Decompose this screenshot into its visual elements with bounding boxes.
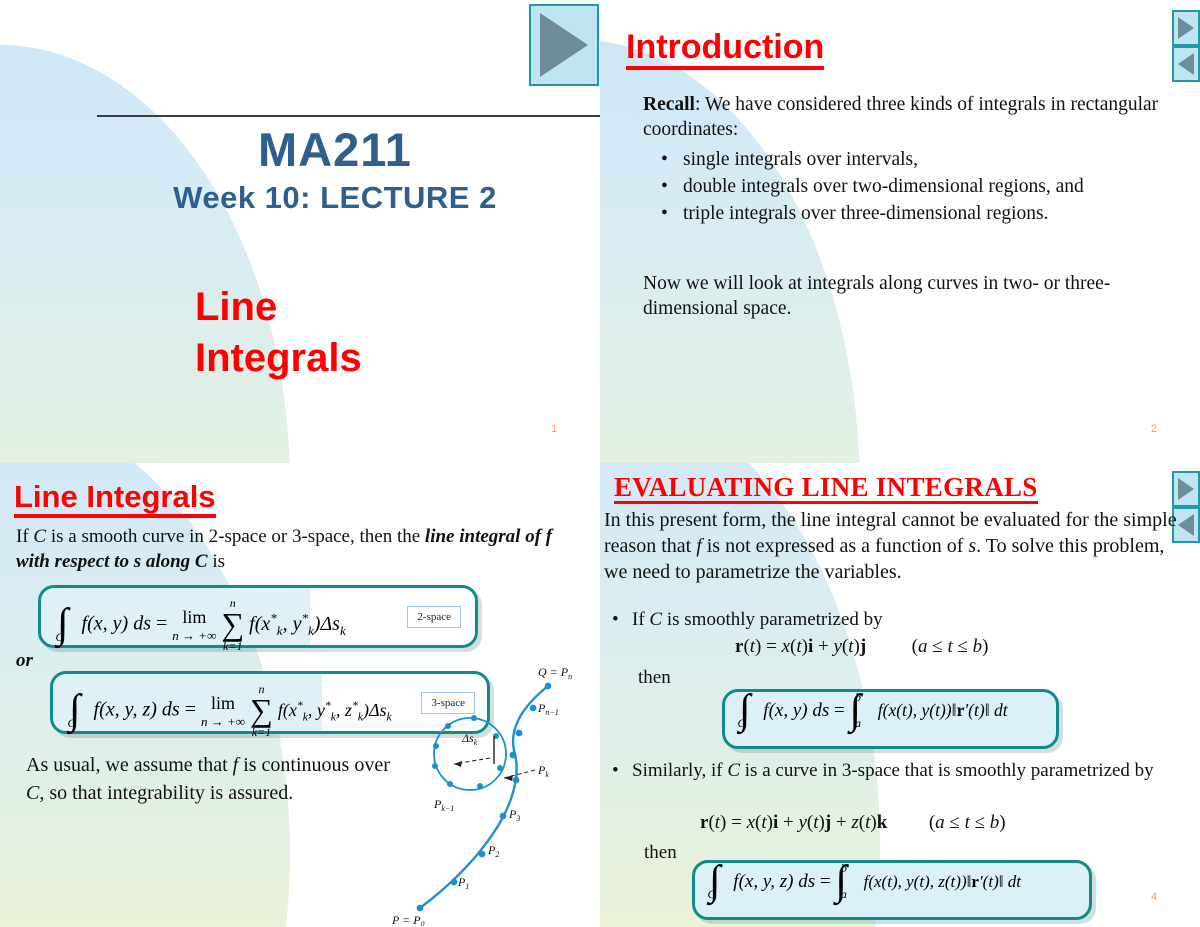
label-end: Q = Pn [538,665,572,681]
then-label-2: then [644,841,677,866]
curve-symbol: C [649,609,662,630]
pk-arrowhead [504,775,513,781]
integral-kinds-list: •single integrals over intervals, •doubl… [643,147,1183,227]
recall-text: : We have considered three kinds of inte… [643,94,1158,140]
equals-sign: = [185,699,196,721]
recall-paragraph: Recall: We have considered three kinds o… [643,92,1183,143]
parametrization-3d: r(t) = x(t)i + y(t)j + z(t)k (a ≤ t ≤ b) [700,811,1006,836]
arc-point [447,781,453,787]
sum-bottom: k=1 [223,639,242,653]
limit-bottom: n → +∞ [201,714,245,729]
integral-upper-limit: b [855,690,861,704]
curve-symbol: C [33,526,46,547]
sigma-icon: ∑ [250,692,273,728]
label-p3: P3 [508,807,520,823]
integral-subscript: C [738,716,746,730]
note-text-2: is continuous over [238,754,390,776]
integrand-lhs: f(x, y, z) ds [733,871,815,892]
point-marker [500,813,507,820]
label-pn-minus-1: Pn−1 [537,701,559,717]
next-slide-button[interactable] [1172,10,1200,46]
slide-4: EVALUATING LINE INTEGRALS In this presen… [600,463,1200,927]
list-item-label: double integrals over two-dimensional re… [683,176,1084,197]
integral-subscript: C [68,716,76,730]
list-item: •double integrals over two-dimensional r… [643,174,1183,199]
sigma-icon: ∑ [221,606,244,642]
closing-paragraph: Now we will look at integrals along curv… [643,271,1183,322]
point-marker [451,879,458,886]
label-pk-minus-1: Pk−1 [433,797,454,813]
limit-operator: lim n → +∞ [201,693,245,730]
arc-point [471,715,477,721]
slide-heading: EVALUATING LINE INTEGRALS [614,473,1038,504]
bullet-dot-icon: • [612,608,619,633]
slide-heading: Introduction [626,30,824,70]
page-number: 1 [551,423,557,435]
bullet-2d: • If C is smoothly parametrized by [612,608,1172,633]
slide-2: Introduction Recall: We have considered … [600,0,1200,463]
point-marker [513,777,520,784]
delta-label: Δsk [461,731,478,747]
arc-point [445,723,451,729]
curve-symbol: C [26,782,39,804]
range-3d: (a ≤ t ≤ b) [929,812,1006,833]
arc-point [433,743,439,749]
next-slide-button[interactable] [1172,471,1200,507]
parametrization-2d-expression: r(t) = x(t)i + y(t)j [735,636,866,657]
point-marker [516,730,523,737]
label-start: P = P0 [392,913,425,926]
page-number: 4 [1151,891,1157,903]
point-marker [530,705,537,712]
summand: f(x*k, y*k)Δsk [249,613,346,635]
integrand-rhs: f(x(t), y(t), z(t))‖r′(t)‖ dt [864,872,1021,891]
label-p2: P2 [487,843,499,859]
summation-operator: n ∑ k=1 [250,682,273,740]
intro-text-2: is not expressed as a function of [702,535,969,557]
bullet-dot-icon: • [612,758,619,783]
note-text-1: As usual, we assume that [26,754,233,776]
triangle-right-icon [1178,17,1194,39]
triangle-right-icon [1178,478,1194,500]
page-number: 2 [1151,423,1157,435]
parametrization-3d-expression: r(t) = x(t)i + y(t)j + z(t)k [700,812,887,833]
equals-sign: = [834,700,845,721]
arclength-symbol: s [968,535,976,557]
slide-1: MA211 Week 10: LECTURE 2 Line Integrals … [0,0,600,463]
note-text-3: , so that integrability is assured. [39,782,293,804]
integrand-lhs: f(x, y, z) ds [94,699,180,721]
sum-bottom: k=1 [252,725,271,739]
limit-operator: lim n → +∞ [172,607,216,644]
triangle-right-icon [540,13,588,77]
range-2d: (a ≤ t ≤ b) [912,636,989,657]
slide-deck: MA211 Week 10: LECTURE 2 Line Integrals … [0,0,1200,927]
topic-line-2: Integrals [195,333,595,384]
definition-paragraph: If C is a smooth curve in 2-space or 3-s… [16,525,588,574]
integral-subscript: C [56,630,64,644]
list-item: •single integrals over intervals, [643,147,1183,172]
slide-3: Line Integrals If C is a smooth curve in… [0,463,600,927]
formula-box-2d: ∫C f(x, y) ds = ∫ba f(x(t), y(t))‖r′(t)‖… [722,689,1059,749]
summand: f(x*k, y*k, z*k)Δsk [278,700,392,720]
summation-operator: n ∑ k=1 [221,596,244,654]
nav-button-stack [1172,10,1200,82]
intro-text-2: is a smooth curve in 2-space or 3-space,… [46,526,425,547]
topic-title: Line Integrals [195,282,595,384]
equals-sign: = [156,613,167,635]
formula-box-2space: ∫C f(x, y) ds = lim n → +∞ n ∑ k=1 f(x*k… [38,585,478,648]
limit-top: lim [211,693,235,713]
page-subtitle: Week 10: LECTURE 2 [100,180,570,216]
equals-sign: = [820,871,831,892]
integral-lower-limit: a [855,716,861,730]
formula-2d-expression: ∫C f(x, y) ds = ∫ba f(x(t), y(t))‖r′(t)‖… [739,700,1008,722]
magnifier-circle [434,718,506,790]
integral-upper-limit: b [841,861,847,875]
formula-2space-expression: ∫C f(x, y) ds = lim n → +∞ n ∑ k=1 f(x*k… [57,596,346,654]
formula-tag-2space: 2-space [407,606,461,628]
integrand-rhs: f(x(t), y(t))‖r′(t)‖ dt [878,700,1008,720]
list-item-label: triple integrals over three-dimensional … [683,203,1049,224]
prev-slide-button[interactable] [1172,46,1200,82]
arc-point [477,783,483,789]
bullet-dot-icon: • [661,201,668,226]
topic-line-1: Line [195,282,595,333]
partition-curve-figure: Δsk P = P0 P1 P2 P3 Pk−1 Pk Pn−1 Q = Pn [392,658,600,926]
bullet-text-1: If [632,609,649,630]
delta-arrowhead [454,761,462,767]
slide-heading: Line Integrals [14,481,216,518]
bullet-text-2: is a curve in 3-space that is smoothly p… [740,760,1154,781]
point-marker [545,683,552,690]
page-title: MA211 [100,126,570,174]
or-label: or [16,649,33,674]
bullet-dot-icon: • [661,174,668,199]
integral-lower-limit: a [841,887,847,901]
parametrization-2d: r(t) = x(t)i + y(t)j (a ≤ t ≤ b) [735,635,988,660]
intro-text-3: is [208,551,225,572]
point-marker [417,905,424,912]
integrand-lhs: f(x, y) ds [763,700,829,721]
intro-text-1: If [16,526,33,547]
label-pk: Pk [537,763,549,779]
next-slide-button[interactable] [529,4,599,86]
intro-paragraph: In this present form, the line integral … [604,507,1184,585]
recall-label: Recall [643,94,695,115]
point-marker [479,851,486,858]
background-blob [0,45,290,463]
formula-box-3d: ∫C f(x, y, z) ds = ∫ba f(x(t), y(t), z(t… [692,860,1092,920]
limit-top: lim [182,607,206,627]
arc-point [432,763,438,769]
list-item-label: single integrals over intervals, [683,149,918,170]
triangle-left-icon [1178,53,1194,75]
arc-point [497,765,503,771]
list-item: •triple integrals over three-dimensional… [643,201,1183,226]
formula-3space-expression: ∫C f(x, y, z) ds = lim n → +∞ n ∑ k=1 f(… [69,682,392,740]
integral-subscript: C [708,887,716,901]
then-label-1: then [638,666,671,691]
label-p1: P1 [457,875,469,891]
point-marker [510,752,517,759]
limit-bottom: n → +∞ [172,628,216,643]
title-divider-rule [97,115,600,117]
bullet-3d: • Similarly, if C is a curve in 3-space … [612,758,1172,783]
bullet-dot-icon: • [661,147,668,172]
formula-3d-expression: ∫C f(x, y, z) ds = ∫ba f(x(t), y(t), z(t… [709,871,1021,893]
bullet-text-1: Similarly, if [632,760,727,781]
integrand-lhs: f(x, y) ds [82,613,151,635]
bullet-text-2: is smoothly parametrized by [662,609,883,630]
continuity-note: As usual, we assume that f is continuous… [26,751,396,808]
curve-symbol: C [727,760,740,781]
